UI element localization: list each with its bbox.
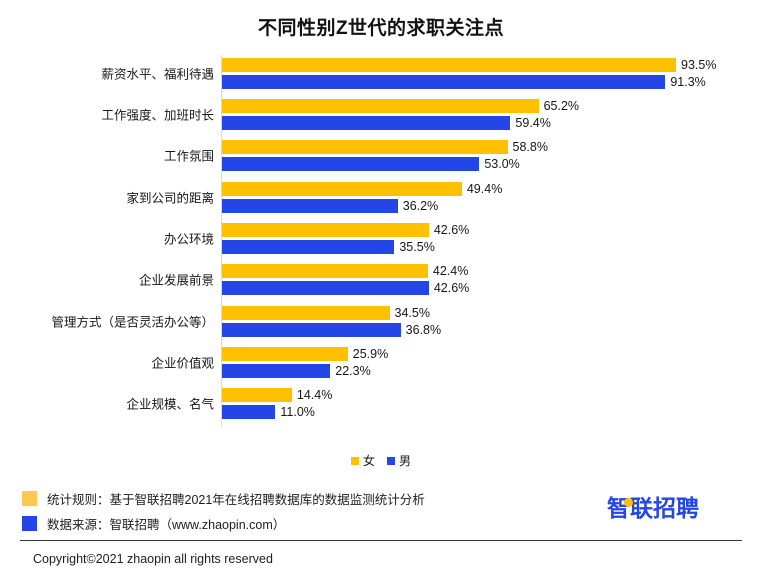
- bar-male: 91.3%: [222, 75, 665, 89]
- category-label: 管理方式（是否灵活办公等）: [51, 315, 214, 330]
- bar-fill: [222, 388, 292, 402]
- chart-legend: 女男: [0, 452, 762, 469]
- footnote-row: 数据来源：智联招聘（www.zhaopin.com）: [22, 511, 582, 536]
- category-label: 工作强度、加班时长: [101, 109, 214, 124]
- bar-female: 14.4%: [222, 388, 292, 402]
- bar-male: 35.5%: [222, 240, 394, 254]
- footnotes: 统计规则：基于智联招聘2021年在线招聘数据库的数据监测统计分析数据来源：智联招…: [22, 486, 582, 536]
- footnote-row: 统计规则：基于智联招聘2021年在线招聘数据库的数据监测统计分析: [22, 486, 582, 511]
- page-title: 不同性别Z世代的求职关注点: [0, 0, 762, 41]
- footer-divider: [20, 540, 742, 541]
- bar-group: 薪资水平、福利待遇93.5%91.3%: [0, 57, 762, 93]
- legend-swatch-icon: [387, 457, 395, 465]
- bar-group: 工作氛围58.8%53.0%: [0, 139, 762, 175]
- bar-value-label: 42.6%: [434, 223, 469, 237]
- footnote-text: 数据来源：智联招聘（www.zhaopin.com）: [47, 514, 285, 533]
- bar-value-label: 58.8%: [513, 140, 548, 154]
- bar-fill: [222, 323, 401, 337]
- bar-group: 企业发展前景42.4%42.6%: [0, 263, 762, 299]
- category-label: 企业价值观: [151, 356, 214, 371]
- footnote-swatch-icon: [22, 491, 37, 506]
- copyright-text: Copyright©2021 zhaopin all rights reserv…: [33, 552, 273, 566]
- bar-fill: [222, 157, 479, 171]
- bar-value-label: 42.4%: [433, 264, 468, 278]
- bar-female: 42.4%: [222, 264, 428, 278]
- bar-fill: [222, 99, 539, 113]
- legend-label: 男: [399, 452, 411, 469]
- bar-male: 36.2%: [222, 199, 398, 213]
- bar-fill: [222, 281, 429, 295]
- bar-fill: [222, 347, 348, 361]
- bar-fill: [222, 364, 330, 378]
- bar-female: 49.4%: [222, 182, 462, 196]
- bar-female: 65.2%: [222, 99, 539, 113]
- bar-group: 管理方式（是否灵活办公等）34.5%36.8%: [0, 305, 762, 341]
- legend-item[interactable]: 女: [351, 452, 375, 469]
- bar-value-label: 36.8%: [406, 323, 441, 337]
- bar-male: 53.0%: [222, 157, 479, 171]
- bar-value-label: 11.0%: [280, 405, 315, 419]
- bar-male: 36.8%: [222, 323, 401, 337]
- category-label: 家到公司的距离: [126, 191, 214, 206]
- bar-fill: [222, 306, 390, 320]
- bar-male: 42.6%: [222, 281, 429, 295]
- bar-value-label: 34.5%: [395, 306, 430, 320]
- bar-male: 22.3%: [222, 364, 330, 378]
- bar-fill: [222, 240, 394, 254]
- bar-value-label: 65.2%: [544, 99, 579, 113]
- bar-fill: [222, 58, 676, 72]
- chart-plot-area: 薪资水平、福利待遇93.5%91.3%工作强度、加班时长65.2%59.4%工作…: [0, 55, 762, 427]
- bar-value-label: 35.5%: [399, 240, 434, 254]
- bar-female: 42.6%: [222, 223, 429, 237]
- bar-female: 93.5%: [222, 58, 676, 72]
- legend-item[interactable]: 男: [387, 452, 411, 469]
- category-label: 工作氛围: [164, 150, 214, 165]
- bar-group: 家到公司的距离49.4%36.2%: [0, 181, 762, 217]
- category-label: 企业发展前景: [139, 274, 214, 289]
- bar-male: 11.0%: [222, 405, 275, 419]
- bar-value-label: 91.3%: [670, 75, 705, 89]
- bar-fill: [222, 75, 665, 89]
- category-label: 薪资水平、福利待遇: [101, 67, 214, 82]
- category-label: 企业规模、名气: [126, 398, 214, 413]
- bar-female: 34.5%: [222, 306, 390, 320]
- bar-fill: [222, 140, 508, 154]
- bar-value-label: 93.5%: [681, 58, 716, 72]
- legend-label: 女: [363, 452, 375, 469]
- bar-female: 25.9%: [222, 347, 348, 361]
- footnote-swatch-icon: [22, 516, 37, 531]
- bar-group: 工作强度、加班时长65.2%59.4%: [0, 98, 762, 134]
- bar-male: 59.4%: [222, 116, 510, 130]
- bar-fill: [222, 116, 510, 130]
- bar-value-label: 14.4%: [297, 388, 332, 402]
- bar-group: 办公环境42.6%35.5%: [0, 222, 762, 258]
- bar-fill: [222, 182, 462, 196]
- zhaopin-logo: 智联招聘: [607, 497, 699, 520]
- legend-swatch-icon: [351, 457, 359, 465]
- bar-value-label: 59.4%: [515, 116, 550, 130]
- bar-value-label: 36.2%: [403, 199, 438, 213]
- bar-fill: [222, 199, 398, 213]
- bar-female: 58.8%: [222, 140, 508, 154]
- bar-value-label: 22.3%: [335, 364, 370, 378]
- logo-text: 智联招聘: [607, 495, 699, 521]
- bar-fill: [222, 223, 429, 237]
- bar-value-label: 53.0%: [484, 157, 519, 171]
- footnote-text: 统计规则：基于智联招聘2021年在线招聘数据库的数据监测统计分析: [47, 489, 425, 508]
- category-label: 办公环境: [164, 232, 214, 247]
- bar-value-label: 25.9%: [353, 347, 388, 361]
- bar-value-label: 49.4%: [467, 182, 502, 196]
- bar-fill: [222, 264, 428, 278]
- bar-fill: [222, 405, 275, 419]
- bar-group: 企业规模、名气14.4%11.0%: [0, 387, 762, 423]
- logo-dot-icon: [624, 498, 633, 507]
- bar-group: 企业价值观25.9%22.3%: [0, 346, 762, 382]
- bar-value-label: 42.6%: [434, 281, 469, 295]
